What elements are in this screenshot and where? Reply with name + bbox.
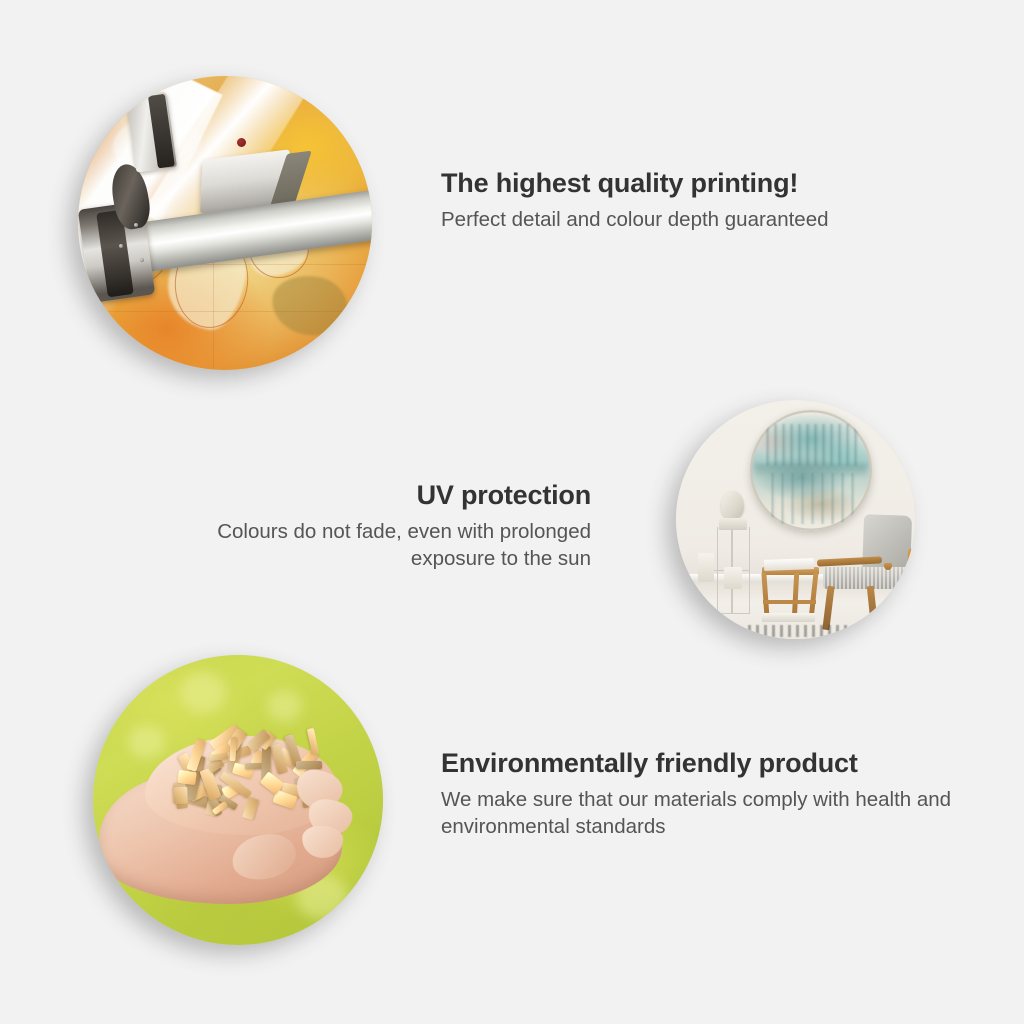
art-treeline [762,424,862,465]
feature-text-uv-protection: UV protection Colours do not fade, even … [171,480,591,573]
feature-infographic: The highest quality printing! Perfect de… [0,0,1024,1024]
feature-text-printing-quality: The highest quality printing! Perfect de… [441,168,961,233]
feature-subtitle: Colours do not fade, even with prolonged… [171,518,591,573]
feature-title: UV protection [171,480,591,512]
candle [698,553,715,582]
bust-pedestal [719,518,746,530]
armchair-leg [822,586,835,630]
printer-head-on-world-map-photo [78,76,372,370]
hands-holding-wood-chips-photo [93,655,383,945]
wood-chip [242,797,259,820]
bokeh-highlight [180,672,226,713]
feature-subtitle: We make sure that our materials comply w… [441,786,961,841]
feature-text-eco-friendly: Environmentally friendly product We make… [441,748,961,841]
wood-chip [177,770,197,786]
armchair [815,515,915,630]
patterned-rug [748,625,887,637]
wood-chip [173,786,188,803]
stacked-books [762,613,815,623]
bust-sculpture [721,491,744,520]
stool-rail [763,600,816,604]
interior-round-wall-art-photo [676,400,915,639]
armchair-leg [867,586,879,630]
screw-icon [134,223,138,227]
bokeh-highlight [267,690,302,722]
map-gridline [78,311,372,312]
candle [724,567,742,589]
screw-icon [119,244,123,248]
mustard-throw-blanket [906,549,915,600]
red-indicator-dot [237,138,246,147]
feature-title: The highest quality printing! [441,168,961,200]
wooden-stool [762,567,819,617]
feature-title: Environmentally friendly product [441,748,961,780]
open-book [764,558,815,570]
wood-chip [296,761,322,769]
feature-subtitle: Perfect detail and colour depth guarante… [441,206,961,233]
round-canvas-wall-art [750,410,872,532]
